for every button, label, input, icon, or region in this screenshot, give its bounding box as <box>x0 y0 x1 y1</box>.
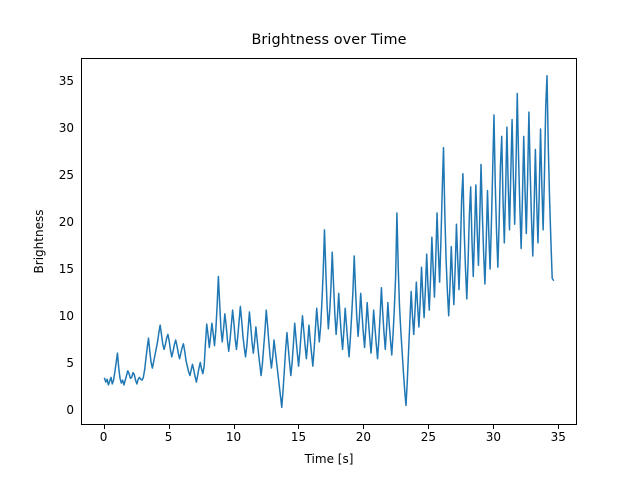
x-tick-label: 5 <box>165 430 173 444</box>
x-tick-mark <box>234 425 235 429</box>
x-tick-mark <box>363 425 364 429</box>
y-tick-label: 5 <box>66 356 74 370</box>
plot-axes-area <box>81 58 577 425</box>
figure-canvas: Brightness over Time Brightness 05101520… <box>0 0 640 480</box>
y-tick-label: 15 <box>59 262 74 276</box>
x-tick-label: 35 <box>551 430 566 444</box>
y-axis-tick-labels: 05101520253035 <box>41 58 74 425</box>
x-tick-mark <box>104 425 105 429</box>
x-tick-label: 15 <box>291 430 306 444</box>
line-series-brightness <box>82 59 576 424</box>
x-tick-label: 30 <box>486 430 501 444</box>
x-tick-mark <box>558 425 559 429</box>
x-axis-tick-marks <box>81 425 577 429</box>
x-tick-mark <box>493 425 494 429</box>
x-axis-label: Time [s] <box>81 452 577 466</box>
chart-title: Brightness over Time <box>81 32 577 48</box>
x-axis-tick-labels: 05101520253035 <box>81 430 577 448</box>
x-tick-mark <box>298 425 299 429</box>
y-tick-label: 20 <box>59 215 74 229</box>
x-tick-label: 0 <box>100 430 108 444</box>
x-tick-mark <box>428 425 429 429</box>
y-tick-label: 25 <box>59 168 74 182</box>
x-tick-label: 20 <box>356 430 371 444</box>
y-tick-label: 0 <box>66 403 74 417</box>
x-tick-label: 10 <box>226 430 241 444</box>
y-tick-label: 35 <box>59 74 74 88</box>
x-tick-mark <box>169 425 170 429</box>
x-tick-label: 25 <box>421 430 436 444</box>
y-tick-label: 30 <box>59 121 74 135</box>
y-tick-label: 10 <box>59 309 74 323</box>
